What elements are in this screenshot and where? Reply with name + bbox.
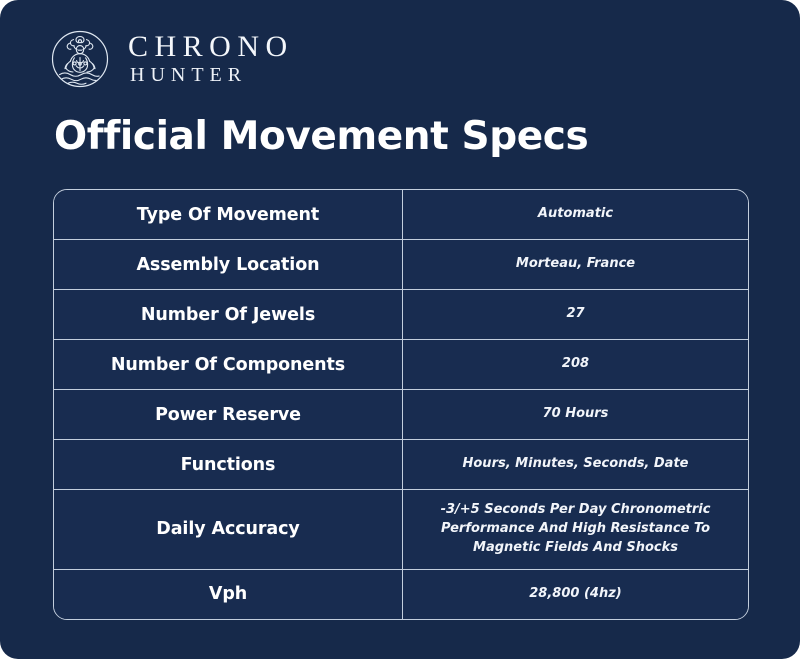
spec-label: Number Of Jewels	[54, 290, 403, 339]
table-row: Daily Accuracy -3/+5 Seconds Per Day Chr…	[54, 490, 748, 570]
table-row: Assembly Location Morteau, France	[54, 240, 748, 290]
spec-label: Number Of Components	[54, 340, 403, 389]
spec-value: 28,800 (4hz)	[403, 570, 748, 619]
spec-sheet-card: CHRONO HUNTER Official Movement Specs Ty…	[0, 0, 800, 659]
table-row: Number Of Jewels 27	[54, 290, 748, 340]
brand-name-secondary: HUNTER	[128, 63, 294, 88]
spec-label: Power Reserve	[54, 390, 403, 439]
spec-label: Daily Accuracy	[54, 490, 403, 569]
spec-value: Morteau, France	[403, 240, 748, 289]
table-row: Vph 28,800 (4hz)	[54, 570, 748, 619]
spec-value: 27	[403, 290, 748, 339]
brand-wordmark: CHRONO HUNTER	[128, 30, 294, 88]
movement-specs-table: Type Of Movement Automatic Assembly Loca…	[53, 189, 749, 620]
table-row: Functions Hours, Minutes, Seconds, Date	[54, 440, 748, 490]
table-row: Power Reserve 70 Hours	[54, 390, 748, 440]
spec-value: 208	[403, 340, 748, 389]
spec-value: Hours, Minutes, Seconds, Date	[403, 440, 748, 489]
chrono-hunter-emblem-icon	[48, 27, 112, 91]
spec-label: Type Of Movement	[54, 190, 403, 239]
spec-value: 70 Hours	[403, 390, 748, 439]
page-title: Official Movement Specs	[54, 114, 588, 159]
spec-value: Automatic	[403, 190, 748, 239]
brand-lockup: CHRONO HUNTER	[48, 27, 294, 91]
spec-label: Functions	[54, 440, 403, 489]
spec-label: Vph	[54, 570, 403, 619]
table-row: Number Of Components 208	[54, 340, 748, 390]
table-row: Type Of Movement Automatic	[54, 190, 748, 240]
brand-name-primary: CHRONO	[128, 32, 294, 63]
spec-value: -3/+5 Seconds Per Day Chronometric Perfo…	[403, 490, 748, 569]
spec-label: Assembly Location	[54, 240, 403, 289]
